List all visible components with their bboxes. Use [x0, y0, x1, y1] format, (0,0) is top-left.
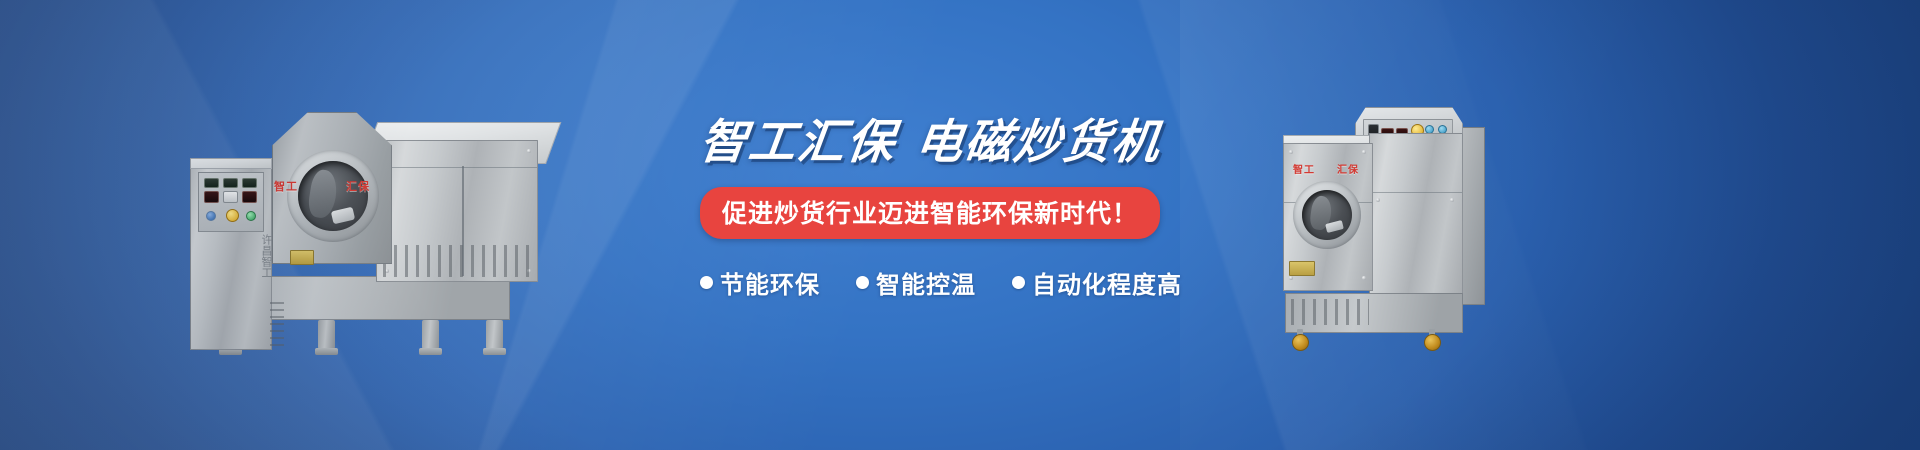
machine-left-vent-slats — [383, 245, 533, 277]
feature-item-1: 节能环保 — [700, 265, 820, 300]
machine-left-meter-2 — [223, 178, 238, 188]
feature-item-2: 智能控温 — [856, 265, 976, 300]
machine-right-rivet-4 — [1362, 150, 1366, 154]
machine-left-rivet-2 — [527, 149, 531, 153]
banner-subtitle-pill: 促进炒货行业迈进智能环保新时代！ — [700, 187, 1160, 239]
machine-right-rivet-6 — [1362, 276, 1366, 280]
machine-left-seam-h — [377, 167, 537, 168]
machine-right-brand-left: 智工 — [1293, 161, 1315, 176]
machine-right-spec-plate — [1289, 261, 1315, 276]
machine-right-caster-1 — [1292, 334, 1309, 351]
bullet-dot-icon — [856, 276, 869, 289]
product-image-compact-roaster: 智工 汇保 — [1281, 103, 1507, 351]
machine-left-cabinet-body — [376, 140, 538, 282]
promo-banner: 智工 汇保 许昌智工 智工汇保电磁炒货机 促进炒货行业迈进智能环保新时代！ — [0, 0, 1920, 450]
machine-right-brand-right: 汇保 — [1337, 161, 1359, 176]
machine-left-brand-right: 汇保 — [346, 178, 370, 194]
machine-left-emergency-stop[interactable] — [226, 209, 239, 222]
machine-left-start-button[interactable] — [246, 211, 256, 221]
banner-feature-list: 节能环保 智能控温 自动化程度高 — [700, 265, 1260, 300]
product-image-large-roaster: 智工 汇保 许昌智工 — [186, 104, 556, 350]
feature-label-1: 节能环保 — [720, 265, 820, 300]
machine-left-display-2 — [223, 191, 238, 203]
machine-left-cabinet-top — [190, 158, 272, 169]
machine-right-seam-h — [1370, 192, 1462, 193]
banner-headline: 智工汇保电磁炒货机 — [697, 118, 1263, 165]
feature-label-3: 自动化程度高 — [1032, 265, 1182, 300]
machine-left-foot-3 — [419, 348, 442, 355]
headline-part-1: 智工汇保 — [697, 115, 900, 168]
bullet-dot-icon — [1012, 276, 1025, 289]
machine-left-switch-blue[interactable] — [206, 211, 216, 221]
headline-part-2: 电磁炒货机 — [913, 115, 1165, 168]
machine-left-meter-3 — [242, 178, 257, 188]
machine-left-leg-2 — [318, 320, 335, 350]
machine-left-foot-2 — [315, 348, 338, 355]
bullet-dot-icon — [700, 276, 713, 289]
machine-left-spec-plate — [290, 250, 314, 265]
machine-left-display-3 — [242, 191, 257, 203]
machine-right-caster-2 — [1424, 334, 1441, 351]
machine-right-vent-slats — [1291, 299, 1369, 325]
machine-left-side-vent — [270, 300, 284, 346]
machine-right-rivet-5 — [1289, 276, 1293, 280]
machine-right-rivet-1 — [1376, 198, 1380, 202]
machine-left-vertical-brand-text: 许昌智工 — [259, 234, 273, 278]
machine-left-brand-left: 智工 — [274, 178, 298, 194]
machine-left-control-panel[interactable] — [198, 172, 264, 232]
machine-left-display-1 — [204, 191, 219, 203]
machine-left-leg-4 — [486, 320, 503, 350]
banner-copy-block: 智工汇保电磁炒货机 促进炒货行业迈进智能环保新时代！ 节能环保 智能控温 自动化… — [700, 118, 1260, 300]
feature-label-2: 智能控温 — [876, 265, 976, 300]
machine-left-leg-3 — [422, 320, 439, 350]
machine-right-rivet-2 — [1450, 198, 1454, 202]
machine-left-door-seam — [462, 166, 464, 276]
feature-item-3: 自动化程度高 — [1012, 265, 1182, 300]
machine-left-foot-4 — [483, 348, 506, 355]
machine-right-cabinet — [1369, 133, 1463, 295]
machine-left-meter-1 — [204, 178, 219, 188]
machine-right-rivet-3 — [1289, 150, 1293, 154]
